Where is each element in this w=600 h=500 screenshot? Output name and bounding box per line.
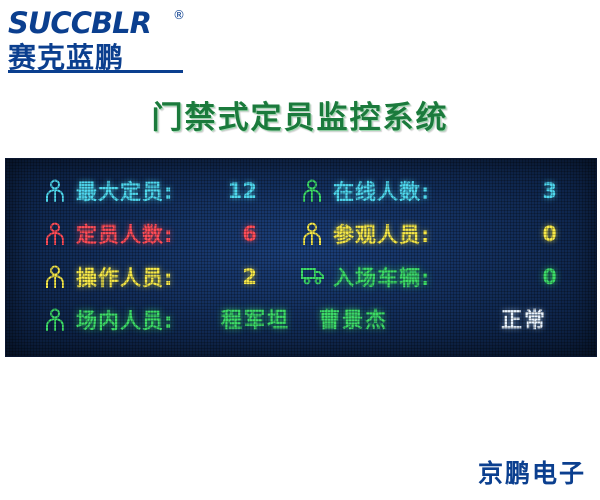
- led-field-onsite-personnel: 场内人员:: [44, 302, 173, 338]
- led-label: 参观人员:: [333, 219, 430, 249]
- led-value-online-count: 3: [511, 173, 557, 209]
- led-value-operator-count: 2: [211, 259, 257, 295]
- person-icon: [44, 222, 66, 246]
- led-label: 场内人员:: [76, 305, 173, 335]
- led-field-visitor-count: 参观人员:: [301, 216, 430, 252]
- led-value-assigned-count: 6: [211, 216, 257, 252]
- led-field-operator-count: 操作人员:: [44, 259, 173, 295]
- led-row: 最大定员: 12 在线人数: 3: [6, 173, 596, 209]
- led-row: 定员人数: 6 参观人员: 0: [6, 216, 596, 252]
- led-label: 最大定员:: [76, 176, 173, 206]
- led-value-max-capacity: 12: [211, 173, 257, 209]
- registered-trademark-icon: ®: [173, 8, 185, 22]
- company-footer: 京鹏电子: [478, 454, 586, 490]
- led-label: 定员人数:: [76, 219, 173, 249]
- led-display-panel: 最大定员: 12 在线人数: 3 定员: [5, 158, 597, 357]
- led-label: 入场车辆:: [333, 262, 430, 292]
- onsite-person-name-2: 曹景杰: [319, 302, 388, 338]
- page-title: 门禁式定员监控系统: [0, 92, 600, 137]
- person-icon: [301, 179, 323, 203]
- brand-underline: [8, 70, 183, 73]
- onsite-person-name-1: 程军坦: [221, 302, 290, 338]
- led-label: 在线人数:: [333, 176, 430, 206]
- truck-icon: [301, 265, 323, 289]
- person-icon: [301, 222, 323, 246]
- person-icon: [44, 179, 66, 203]
- led-row: 操作人员: 2 入场车辆: 0: [6, 259, 596, 295]
- led-value-vehicles-entered: 0: [511, 259, 557, 295]
- status-badge: 正常: [501, 302, 547, 338]
- led-field-vehicles-entered: 入场车辆:: [301, 259, 430, 295]
- led-row-onsite-personnel: 场内人员: 程军坦 曹景杰 正常: [6, 302, 596, 338]
- led-field-max-capacity: 最大定员:: [44, 173, 173, 209]
- person-icon: [44, 308, 66, 332]
- led-field-online-count: 在线人数:: [301, 173, 430, 209]
- led-value-visitor-count: 0: [511, 216, 557, 252]
- brand-logo: SUCCBLR ® 赛克蓝鹏: [8, 6, 208, 72]
- person-icon: [44, 265, 66, 289]
- brand-latin-name: SUCCBLR: [8, 6, 151, 40]
- led-field-assigned-count: 定员人数:: [44, 216, 173, 252]
- led-label: 操作人员:: [76, 262, 173, 292]
